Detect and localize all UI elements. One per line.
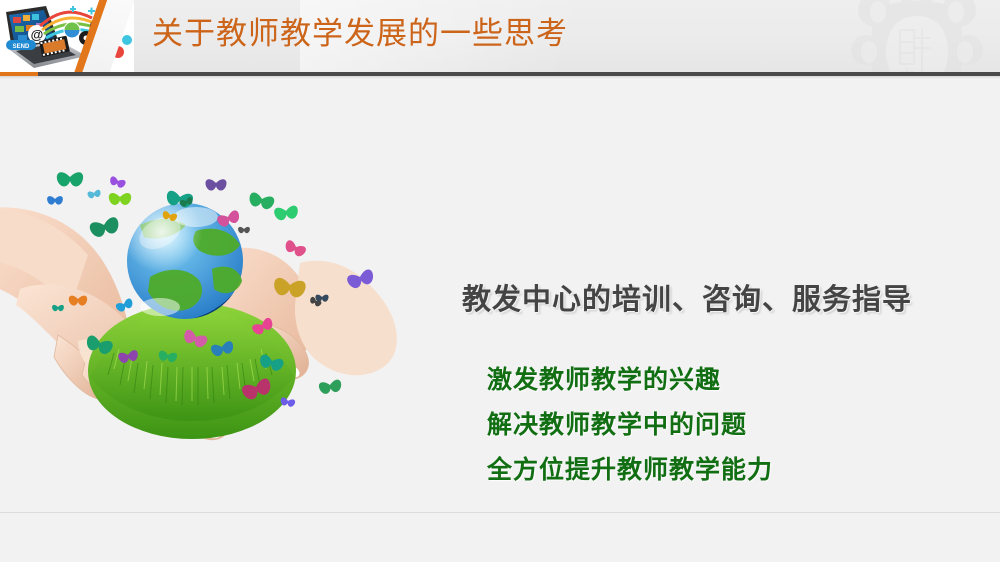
university-emblem-watermark-icon	[842, 0, 992, 72]
svg-text:SEND: SEND	[13, 44, 30, 50]
slide-footer: 28 现代教学技术教育部重点实验室 陕西师范大学国家级教师教学发展示范中心	[0, 513, 1000, 562]
bullet-item-2: 解决教师教学中的问题	[487, 403, 773, 448]
bullet-item-3: 全方位提升教师教学能力	[487, 448, 773, 493]
laptop-multimedia-icon: @ SEND	[0, 0, 134, 72]
slide-body: 教发中心的培训、咨询、服务指导 激发教师教学的兴趣 解决教师教学中的问题 全方位…	[0, 79, 1000, 512]
page-title: 关于教师教学发展的一些思考	[152, 13, 568, 55]
slide-header: @ SEND	[0, 0, 1000, 72]
presentation-slide: @ SEND	[0, 0, 1000, 562]
bullet-item-1: 激发教师教学的兴趣	[487, 358, 773, 403]
main-headline: 教发中心的培训、咨询、服务指导	[462, 276, 912, 318]
hands-holding-grass-globe-butterflies-image	[0, 159, 440, 489]
bullet-list: 激发教师教学的兴趣 解决教师教学中的问题 全方位提升教师教学能力	[487, 358, 773, 493]
